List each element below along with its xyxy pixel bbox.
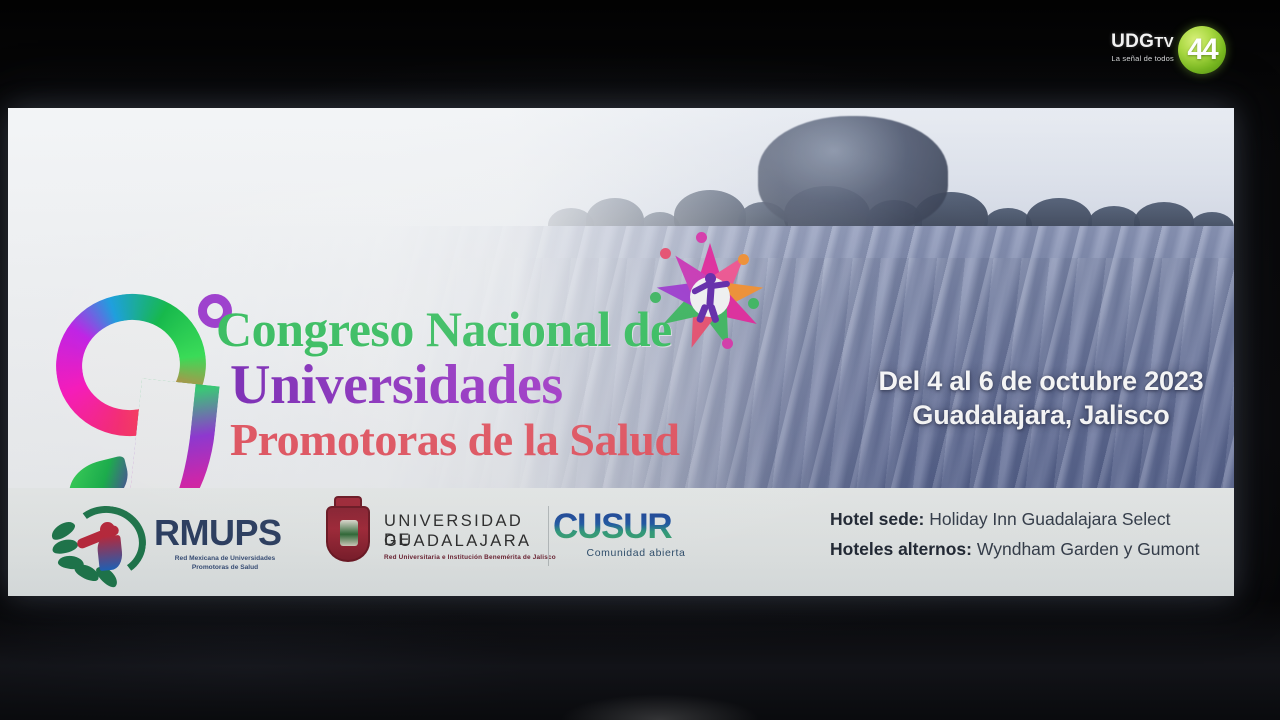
channel-name-block: UDGTV La señal de todos: [1086, 32, 1174, 64]
slide-banner: Congreso Nacional de Universidades Promo…: [8, 108, 1234, 488]
hotel-alternate-line: Hoteles alternos: Wyndham Garden y Gumon…: [830, 534, 1234, 564]
title-line-2: Universidades: [230, 357, 736, 413]
channel-name: UDGTV: [1086, 32, 1174, 53]
event-date-location: Del 4 al 6 de octubre 2023 Guadalajara, …: [846, 364, 1234, 432]
hotel-venue-value: Holiday Inn Guadalajara Select: [929, 509, 1170, 529]
udg-logo: UNIVERSIDAD DE GUADALAJARA Red Universit…: [326, 502, 556, 582]
hotel-alternate-value: Wyndham Garden y Gumont: [977, 539, 1200, 559]
rmups-subtitle: Red Mexicana de Universidades Promotoras…: [160, 554, 290, 572]
event-title: Congreso Nacional de Universidades Promo…: [216, 304, 736, 463]
udg-name-line-2: GUADALAJARA: [384, 532, 531, 551]
rmups-emblem-icon: [50, 506, 154, 580]
channel-tagline: La señal de todos: [1086, 54, 1174, 64]
channel-prefix: UDG: [1111, 31, 1154, 52]
rmups-logo: RMUPS Red Mexicana de Universidades Prom…: [50, 500, 290, 584]
title-line-1: Congreso Nacional de: [216, 304, 736, 354]
rmups-subtitle-line-1: Red Mexicana de Universidades: [160, 554, 290, 563]
title-line-3: Promotoras de la Salud: [230, 417, 736, 463]
channel-watermark: UDGTV La señal de todos 44: [1086, 26, 1236, 76]
channel-tv-suffix: TV: [1154, 34, 1174, 51]
projection-room-scene: UDGTV La señal de todos 44: [0, 0, 1280, 720]
event-date: Del 4 al 6 de octubre 2023: [846, 364, 1234, 398]
udg-tagline: Red Universitaria e Institución Beneméri…: [384, 554, 556, 561]
hotel-venue-label: Hotel sede:: [830, 509, 924, 529]
cusur-logo: CUSUR Comunidad abierta: [553, 508, 713, 570]
projected-slide: Congreso Nacional de Universidades Promo…: [8, 108, 1234, 596]
slide-footer: RMUPS Red Mexicana de Universidades Prom…: [8, 488, 1234, 596]
channel-number-badge: 44: [1178, 26, 1226, 74]
cusur-tagline: Comunidad abierta: [561, 547, 711, 559]
channel-number: 44: [1178, 26, 1226, 74]
floor-light-spot: [560, 694, 760, 720]
logo-divider: [548, 506, 549, 566]
rmups-subtitle-line-2: Promotoras de Salud: [160, 563, 290, 572]
rmups-acronym: RMUPS: [154, 514, 282, 552]
event-location: Guadalajara, Jalisco: [846, 398, 1234, 432]
hotel-alternate-label: Hoteles alternos:: [830, 539, 972, 559]
udg-crest-icon: [326, 506, 370, 562]
cusur-acronym: CUSUR: [553, 508, 713, 546]
hotel-information: Hotel sede: Holiday Inn Guadalajara Sele…: [830, 504, 1234, 564]
hotel-venue-line: Hotel sede: Holiday Inn Guadalajara Sele…: [830, 504, 1234, 534]
